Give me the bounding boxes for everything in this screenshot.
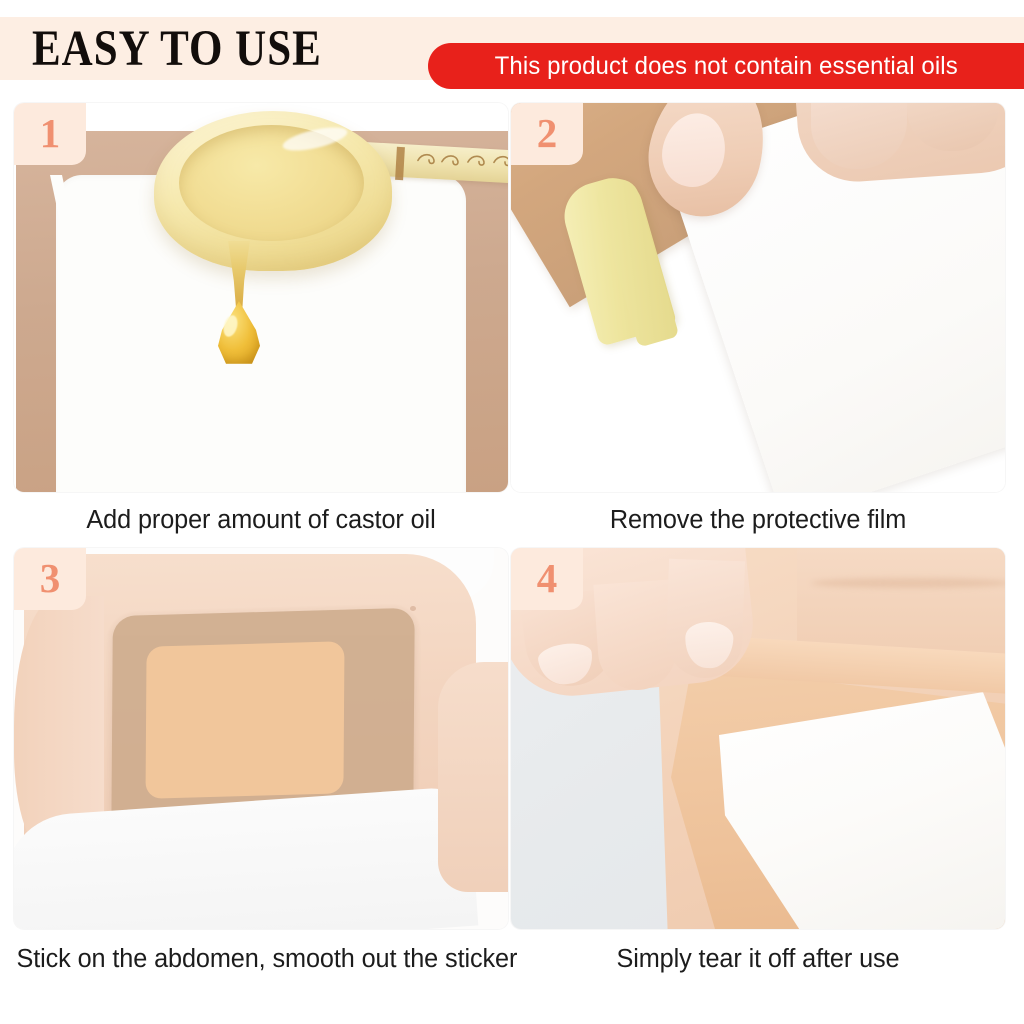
step-caption-2: Remove the protective film [513,492,1002,535]
step-number-badge-2: 2 [511,103,583,165]
step-card-1: 1 Add proper amount of castor oil [14,103,511,535]
skin-crease [811,578,1005,588]
step-number-badge-1: 1 [14,103,86,165]
step-card-2: 2 Remove the protective film [511,103,1008,535]
no-essential-oils-banner: This product does not contain essential … [428,43,1024,89]
step-caption-3: Stick on the abdomen, smooth out the sti… [16,929,505,974]
steps-grid: 1 Add proper amount of castor oil 2 [0,95,1024,1024]
navel [410,606,416,611]
step-number-2: 2 [537,113,558,154]
step-caption-4: Simply tear it off after use [513,929,1002,974]
step-number-1: 1 [40,113,61,154]
step-number-3: 3 [40,558,61,599]
step-card-4: 4 Simply tear it off after use [511,548,1008,974]
step-2-photo: 2 [511,103,1005,492]
patch-inner-pad [146,641,345,799]
step-number-4: 4 [537,558,558,599]
infographic-page: EASY TO USE This product does not contai… [0,0,1024,1024]
arm [438,662,508,892]
step-3-photo: 3 [14,548,508,929]
step-card-3: 3 Stick on the abdomen, smooth out the s… [14,548,511,974]
step-caption-1: Add proper amount of castor oil [16,492,505,535]
step-number-badge-4: 4 [511,548,583,610]
step-1-photo: 1 [14,103,508,492]
step-4-photo: 4 [511,548,1005,929]
banner-text: This product does not contain essential … [494,52,957,81]
step-number-badge-3: 3 [14,548,86,610]
header-band: EASY TO USE This product does not contai… [0,17,1024,80]
spoon-bowl-inner [179,125,364,241]
page-title: EASY TO USE [32,20,322,78]
